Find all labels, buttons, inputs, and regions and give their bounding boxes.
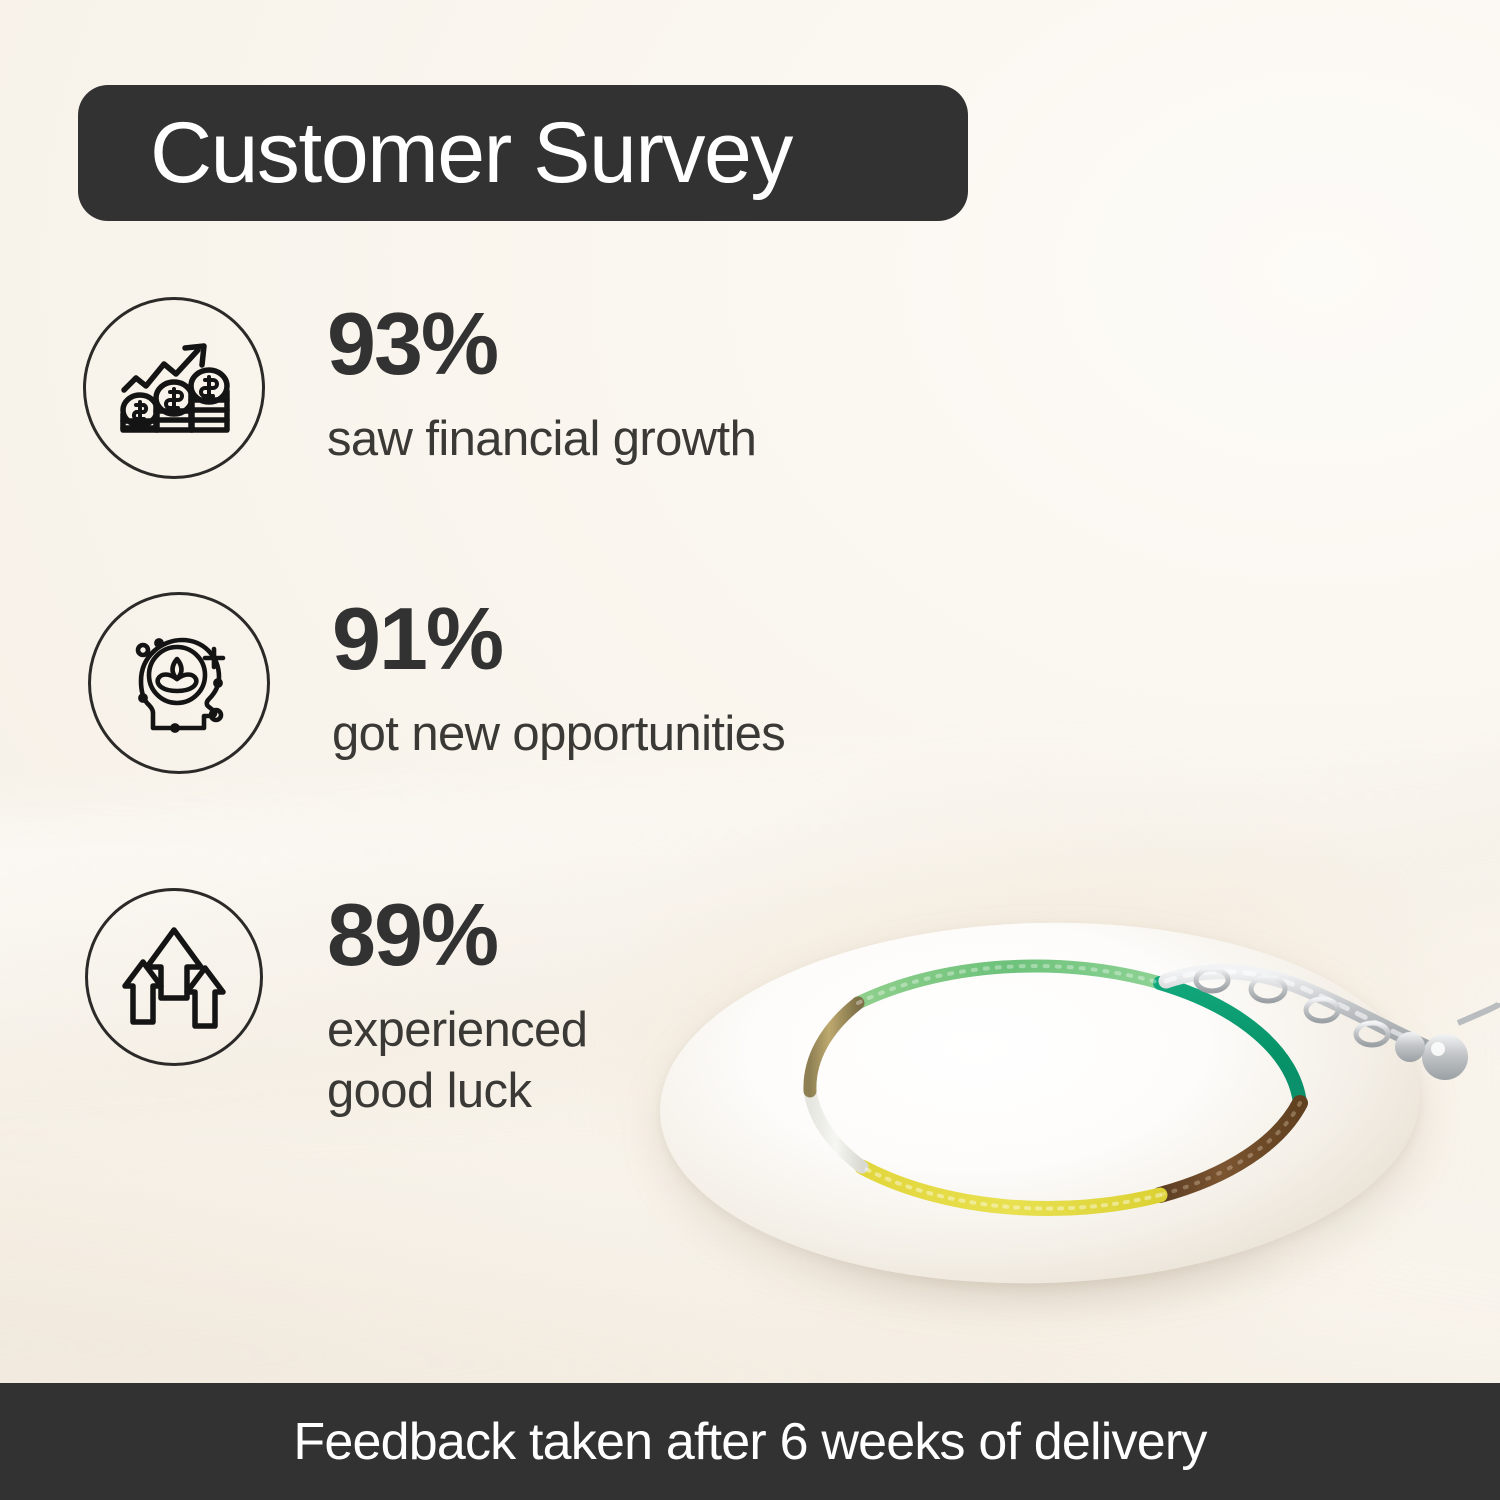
footer-caption: Feedback taken after 6 weeks of delivery [293, 1416, 1206, 1468]
stat-text: 91% got new opportunities [332, 592, 785, 765]
stat-row: 93% saw financial growth [83, 297, 756, 479]
stat-percent: 91% [332, 596, 785, 682]
stat-label: saw financial growth [327, 409, 756, 470]
page-title: Customer Survey [78, 110, 792, 196]
footer-banner: Feedback taken after 6 weeks of delivery [0, 1383, 1500, 1500]
stat-label: got new opportunities [332, 704, 785, 765]
stat-row: 89% experienced good luck [85, 888, 587, 1123]
stat-label: experienced good luck [327, 1000, 587, 1123]
page-title-badge: Customer Survey [78, 85, 968, 221]
stat-row: 91% got new opportunities [88, 592, 785, 774]
stat-percent: 93% [327, 301, 756, 387]
head-mindfulness-lotus-icon [88, 592, 270, 774]
stat-text: 89% experienced good luck [327, 888, 587, 1123]
stat-text: 93% saw financial growth [327, 297, 756, 470]
stat-percent: 89% [327, 892, 587, 978]
financial-growth-chart-coins-icon [83, 297, 265, 479]
three-up-arrows-icon [85, 888, 263, 1066]
